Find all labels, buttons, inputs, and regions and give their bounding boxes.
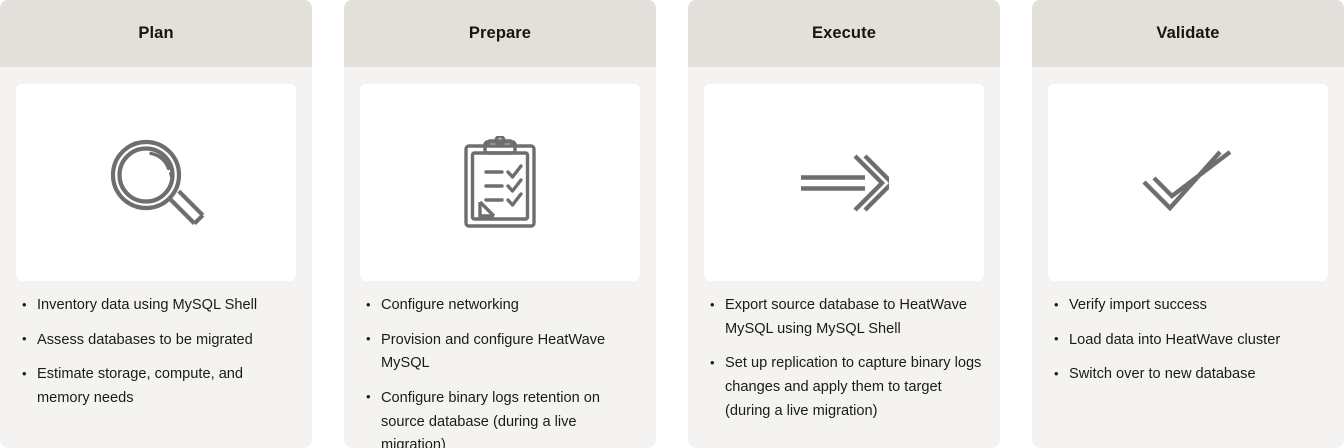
phase-bullet-list-validate: Verify import success Load data into Hea… [1032, 281, 1344, 448]
list-item: Assess databases to be migrated [22, 329, 298, 353]
double-arrow-right-icon [799, 153, 889, 213]
phase-title: Execute [812, 24, 876, 43]
icon-panel-plan [16, 84, 296, 281]
phase-card-execute: Execute Export source database to HeatWa… [688, 0, 1000, 448]
list-item: Verify import success [1054, 294, 1330, 318]
phase-bullet-list-prepare: Configure networking Provision and confi… [344, 281, 656, 448]
phase-title: Prepare [469, 24, 531, 43]
phase-header-validate: Validate [1032, 0, 1344, 67]
list-item: Export source database to HeatWave MySQL… [710, 294, 986, 341]
magnifying-glass-icon [104, 133, 208, 233]
phase-bullet-list-plan: Inventory data using MySQL Shell Assess … [0, 281, 312, 448]
list-item: Load data into HeatWave cluster [1054, 329, 1330, 353]
migration-phases-board: Plan Inventory data using MySQL Shell As… [0, 0, 1344, 448]
double-checkmark-icon [1140, 145, 1236, 221]
phase-header-execute: Execute [688, 0, 1000, 67]
list-item: Estimate storage, compute, and memory ne… [22, 363, 298, 410]
list-item: Configure networking [366, 294, 642, 318]
phase-card-prepare: Prepare [344, 0, 656, 448]
list-item: Switch over to new database [1054, 363, 1330, 387]
list-item: Inventory data using MySQL Shell [22, 294, 298, 318]
phase-header-prepare: Prepare [344, 0, 656, 67]
clipboard-checklist-icon [461, 136, 539, 230]
phase-title: Plan [138, 24, 173, 43]
list-item: Set up replication to capture binary log… [710, 352, 986, 423]
phase-bullet-list-execute: Export source database to HeatWave MySQL… [688, 281, 1000, 448]
phase-card-plan: Plan Inventory data using MySQL Shell As… [0, 0, 312, 448]
list-item: Provision and configure HeatWave MySQL [366, 329, 642, 376]
phase-header-plan: Plan [0, 0, 312, 67]
icon-panel-validate [1048, 84, 1328, 281]
phase-card-validate: Validate Verify import success Load data… [1032, 0, 1344, 448]
icon-panel-prepare [360, 84, 640, 281]
icon-panel-execute [704, 84, 984, 281]
phase-title: Validate [1156, 24, 1219, 43]
list-item: Configure binary logs retention on sourc… [366, 387, 642, 448]
